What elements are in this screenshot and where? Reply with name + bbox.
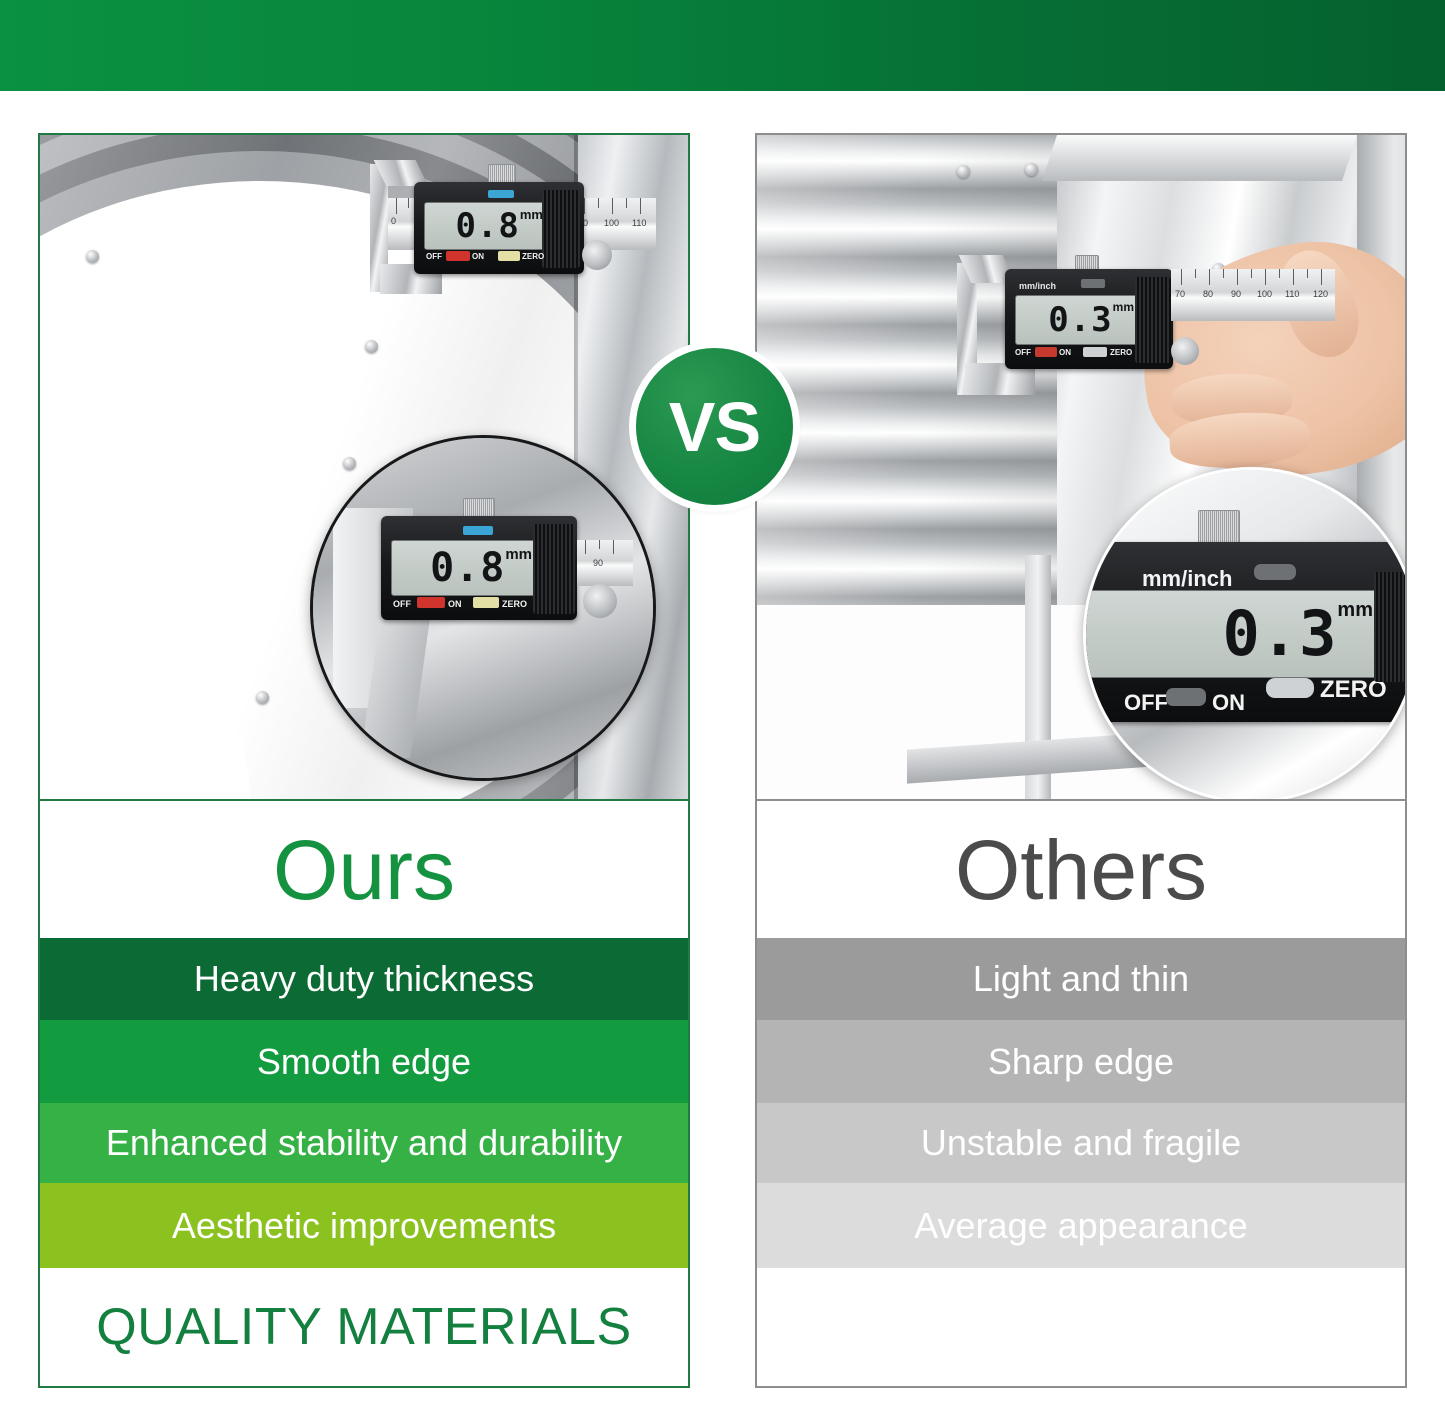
panel-top-edge <box>1042 135 1357 181</box>
ours-feature-label-2: Smooth edge <box>257 1044 471 1080</box>
caliper-off-label: OFF <box>426 252 442 261</box>
caliper-on-label: ON <box>1059 348 1071 357</box>
ruler-number: 100 <box>1257 289 1272 299</box>
magnifier-circle-others: mm/inch 0.3 mm OFF ON ZERO <box>1083 467 1405 801</box>
ours-feature-row-3: Enhanced stability and durability <box>40 1103 688 1183</box>
others-feature-label-1: Light and thin <box>973 961 1189 997</box>
caliper-roller[interactable] <box>1171 337 1199 365</box>
caliper-off-label: OFF <box>393 599 411 609</box>
ruler-number: 90 <box>1231 289 1241 299</box>
caliper-on-label: ON <box>1212 690 1245 716</box>
caliper-unit: mm <box>1337 599 1373 622</box>
caliper-grip <box>1135 277 1171 363</box>
caliper-zero-label: ZERO <box>522 252 544 261</box>
others-product-photo: mm/inch 0.3 mm OFF ON ZERO 70 80 90 <box>757 135 1405 801</box>
caliper-zero-button[interactable] <box>1083 347 1107 357</box>
bolt-icon <box>957 165 970 178</box>
others-feature-row-4: Average appearance <box>757 1183 1405 1268</box>
caliper-zero-button[interactable] <box>1266 678 1314 698</box>
caliper-power-switch[interactable] <box>417 597 445 608</box>
comparison-panel-others: mm/inch 0.3 mm OFF ON ZERO 70 80 90 <box>755 133 1407 1388</box>
others-feature-row-3: Unstable and fragile <box>757 1103 1405 1183</box>
caliper-zero-label: ZERO <box>502 599 527 609</box>
caliper-value: 0.3 <box>1048 303 1112 337</box>
caliper-mode-button[interactable] <box>1254 564 1296 580</box>
caliper-zero-button[interactable] <box>473 597 499 608</box>
digital-caliper-zoom-others: mm/inch 0.3 mm OFF ON ZERO <box>1083 510 1405 740</box>
caliper-on-label: ON <box>472 252 484 261</box>
bolt-icon <box>1025 163 1038 176</box>
caliper-value: 0.8 <box>430 548 505 588</box>
caliper-mode-label: mm/inch <box>1019 281 1056 291</box>
caliper-mode-button[interactable] <box>1081 279 1105 288</box>
caliper-off-label: OFF <box>1124 690 1168 716</box>
caliper-mode-label: mm/inch <box>1142 566 1232 592</box>
digital-caliper-small-ours: 0 90 100 110 0.8 mm OFF ON ZERO <box>370 160 670 295</box>
digital-caliper-small-others: mm/inch 0.3 mm OFF ON ZERO 70 80 90 <box>957 255 1337 395</box>
ruler-number: 0 <box>391 216 396 226</box>
caliper-zero-label: ZERO <box>1110 348 1132 357</box>
caliper-power-switch[interactable] <box>1166 688 1206 706</box>
caliper-thumb-knob[interactable] <box>488 164 516 184</box>
bolt-icon <box>256 691 269 704</box>
bolt-icon <box>86 250 99 263</box>
others-footer-row <box>757 1268 1405 1386</box>
caliper-grip <box>1374 572 1405 682</box>
digital-caliper-zoom-ours: 0.8 mm OFF ON ZERO 90 <box>373 498 633 638</box>
page-title-others: Others <box>955 828 1207 912</box>
ruler-number: 80 <box>1203 289 1213 299</box>
caliper-off-label: OFF <box>1015 348 1031 357</box>
vs-badge: VS <box>636 348 793 505</box>
caliper-power-switch[interactable] <box>446 251 470 261</box>
vs-label: VS <box>669 392 760 462</box>
ruler-number: 110 <box>1285 289 1299 299</box>
bolt-icon <box>365 340 378 353</box>
caliper-on-label: ON <box>448 599 462 609</box>
others-feature-label-4: Average appearance <box>914 1208 1248 1244</box>
caliper-value: 0.8 <box>455 209 519 243</box>
caliper-lcd-others: 0.3 mm <box>1015 295 1139 345</box>
caliper-blue-button[interactable] <box>463 526 493 535</box>
caliper-scale: 70 80 90 100 110 120 <box>1171 269 1335 321</box>
quality-materials-label: QUALITY MATERIALS <box>96 1301 631 1353</box>
caliper-unit: mm <box>1113 300 1134 314</box>
ruler-number: 70 <box>1175 289 1185 299</box>
caliper-lcd-ours: 0.8 mm <box>424 202 548 250</box>
ruler-number: 90 <box>593 558 603 568</box>
caliper-lcd-zoom-ours: 0.8 mm <box>391 540 538 596</box>
ours-feature-label-3: Enhanced stability and durability <box>106 1125 622 1161</box>
ours-footer-row: QUALITY MATERIALS <box>40 1268 688 1386</box>
caliper-grip <box>533 524 575 614</box>
caliper-unit: mm <box>505 546 532 563</box>
caliper-roller[interactable] <box>583 584 617 618</box>
caliper-power-switch[interactable] <box>1035 347 1057 357</box>
caliper-zero-button[interactable] <box>498 251 520 261</box>
caliper-grip <box>542 190 580 268</box>
top-green-banner <box>0 0 1445 91</box>
caliper-thumb-knob[interactable] <box>1198 510 1240 546</box>
caliper-unit: mm <box>520 207 543 222</box>
ours-feature-row-2: Smooth edge <box>40 1020 688 1103</box>
others-feature-row-2: Sharp edge <box>757 1020 1405 1103</box>
ruler-number: 110 <box>632 218 646 228</box>
ours-feature-row-1: Heavy duty thickness <box>40 938 688 1020</box>
ours-feature-label-1: Heavy duty thickness <box>194 961 534 997</box>
magnifier-circle-ours: 0.8 mm OFF ON ZERO 90 <box>310 435 656 781</box>
caliper-roller[interactable] <box>582 240 612 270</box>
page-title-ours: Ours <box>273 828 455 912</box>
caliper-value: 0.3 <box>1222 603 1337 665</box>
others-feature-label-3: Unstable and fragile <box>921 1125 1241 1161</box>
caliper-scale: 90 <box>577 540 633 586</box>
comparison-panel-ours: 0 90 100 110 0.8 mm OFF ON ZERO <box>38 133 690 1388</box>
caliper-lcd-zoom-others: 0.3 mm <box>1083 590 1384 678</box>
ruler-number: 100 <box>604 218 619 228</box>
ours-product-photo: 0 90 100 110 0.8 mm OFF ON ZERO <box>40 135 688 801</box>
others-feature-row-1: Light and thin <box>757 938 1405 1020</box>
ours-feature-label-4: Aesthetic improvements <box>172 1208 556 1244</box>
ruler-number: 120 <box>1313 289 1328 299</box>
caliper-blue-button[interactable] <box>488 190 514 198</box>
ours-title-row: Ours <box>40 801 688 938</box>
ours-feature-row-4: Aesthetic improvements <box>40 1183 688 1268</box>
others-title-row: Others <box>757 801 1405 938</box>
others-feature-label-2: Sharp edge <box>988 1044 1174 1080</box>
